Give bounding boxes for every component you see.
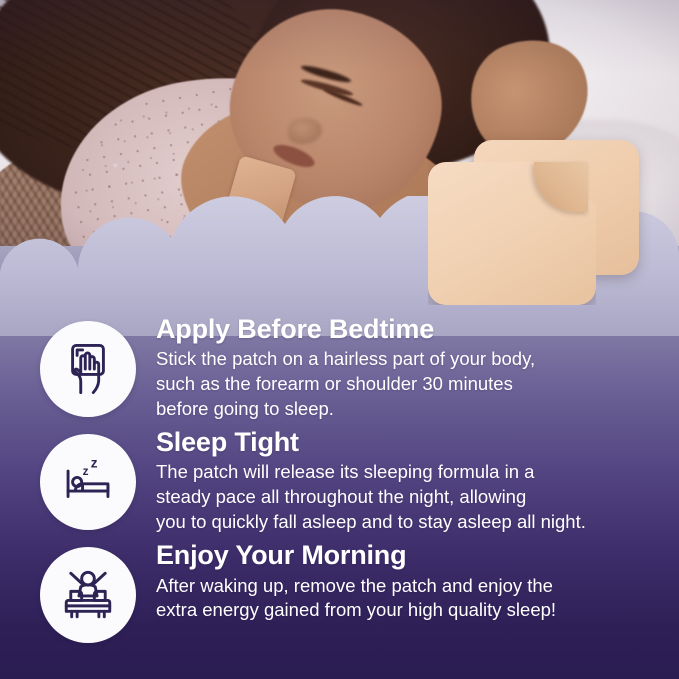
step-body: The patch will release its sleeping form… (156, 460, 586, 534)
step-text: Sleep Tight The patch will release its s… (156, 425, 586, 534)
step-sleep-tight: z z Sleep Tight The patch will release i… (0, 425, 679, 534)
step-text: Apply Before Bedtime Stick the patch on … (156, 312, 535, 421)
step-body: After waking up, remove the patch and en… (156, 574, 556, 623)
step-text: Enjoy Your Morning After waking up, remo… (156, 538, 556, 623)
sleeping-in-bed-zzz-icon: z z (40, 434, 136, 530)
step-title: Sleep Tight (156, 427, 586, 458)
hand-applying-patch-icon (40, 321, 136, 417)
step-body: Stick the patch on a hairless part of yo… (156, 347, 535, 421)
step-enjoy-your-morning: Enjoy Your Morning After waking up, remo… (0, 538, 679, 643)
svg-text:z: z (91, 456, 98, 471)
svg-text:z: z (83, 465, 89, 478)
step-apply-before-bedtime: Apply Before Bedtime Stick the patch on … (0, 312, 679, 421)
steps-list: Apply Before Bedtime Stick the patch on … (0, 312, 679, 649)
step-title: Apply Before Bedtime (156, 314, 535, 345)
person-stretching-in-bed-icon (40, 547, 136, 643)
step-title: Enjoy Your Morning (156, 540, 556, 571)
sleep-patch-infographic: Apply Before Bedtime Stick the patch on … (0, 0, 679, 679)
product-patch-stack (428, 140, 643, 310)
